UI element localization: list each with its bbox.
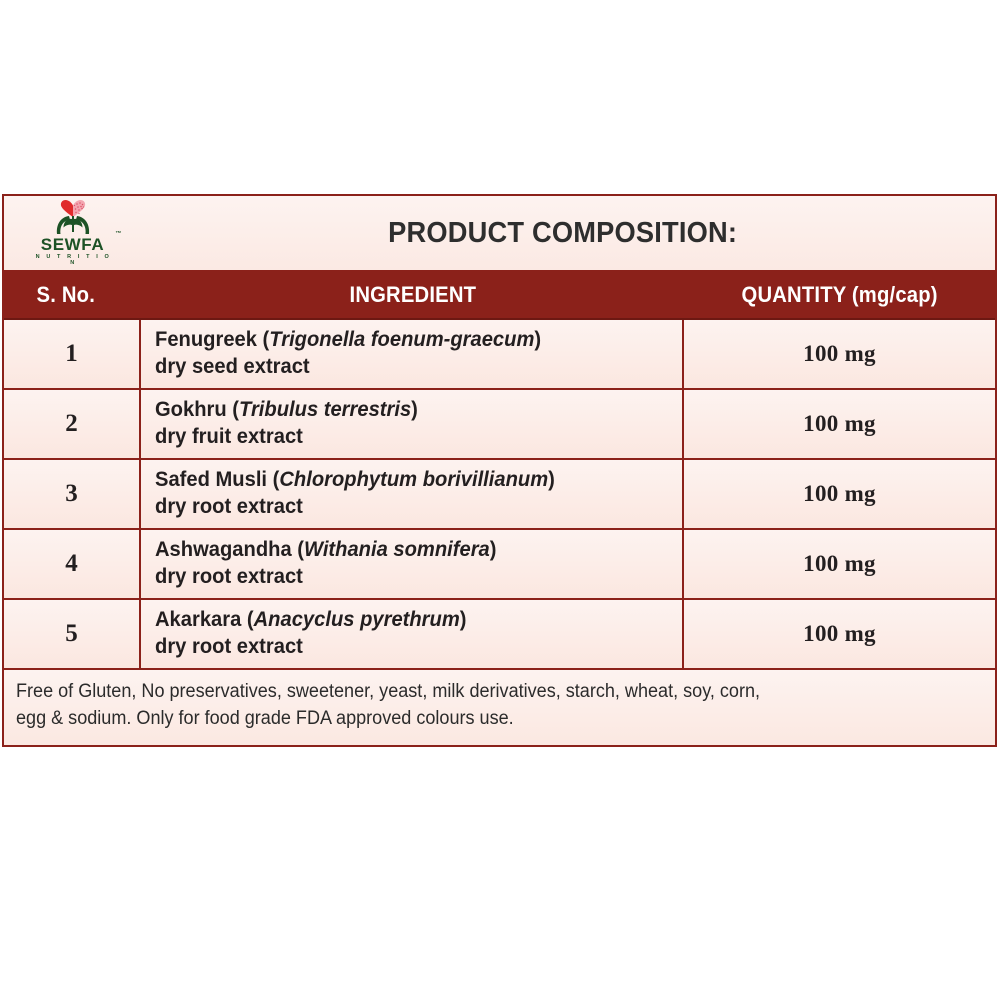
table-row: 1 Fenugreek (Trigonella foenum-graecum) … [4,320,995,390]
allergen-note: Free of Gluten, No preservatives, sweete… [4,670,995,745]
ingredient-latin-name: Anacyclus pyrethrum [254,608,460,631]
column-header-quantity: QUANTITY (mg/cap) [684,272,995,318]
logo-wordmark: SEWFA™ N U T R I T I O N [33,236,113,266]
sewfa-logo: SEWFA™ N U T R I T I O N [33,199,113,267]
table-header-row: S. No. INGREDIENT QUANTITY (mg/cap) [4,272,995,320]
ingredient-name-line: Safed Musli (Chlorophytum borivillianum) [155,467,555,494]
allergen-note-line-2: egg & sodium. Only for food grade FDA ap… [16,706,935,733]
row-quantity: 100 mg [684,390,995,458]
ingredient-part-line: dry seed extract [155,354,310,381]
row-ingredient: Safed Musli (Chlorophytum borivillianum)… [141,460,684,528]
ingredient-name-line: Gokhru (Tribulus terrestris) [155,397,418,424]
column-header-sno: S. No. [4,272,141,318]
row-ingredient: Ashwagandha (Withania somnifera) dry roo… [141,530,684,598]
column-header-sno-label: S. No. [37,282,95,308]
heart-flower-logo-icon [47,199,99,235]
column-header-ingredient-label: INGREDIENT [349,282,476,308]
ingredient-name-line: Fenugreek (Trigonella foenum-graecum) [155,327,541,354]
product-composition-card: SEWFA™ N U T R I T I O N PRODUCT COMPOSI… [2,194,997,747]
row-quantity: 100 mg [684,530,995,598]
table-row: 3 Safed Musli (Chlorophytum borivillianu… [4,460,995,530]
ingredient-paren-close: ) [548,468,555,491]
logo-trademark-icon: ™ [116,231,122,237]
ingredient-paren-close: ) [490,538,497,561]
row-serial-number: 1 [4,320,141,388]
card-title-cell: PRODUCT COMPOSITION: [141,196,995,270]
row-serial-number: 2 [4,390,141,458]
card-title-band: SEWFA™ N U T R I T I O N PRODUCT COMPOSI… [4,196,995,272]
table-row: 5 Akarkara (Anacyclus pyrethrum) dry roo… [4,600,995,670]
table-row: 2 Gokhru (Tribulus terrestris) dry fruit… [4,390,995,460]
ingredient-common-name: Gokhru ( [155,398,239,421]
row-ingredient: Akarkara (Anacyclus pyrethrum) dry root … [141,600,684,668]
row-serial-number: 3 [4,460,141,528]
ingredient-paren-close: ) [460,608,467,631]
table-row: 4 Ashwagandha (Withania somnifera) dry r… [4,530,995,600]
ingredient-paren-close: ) [411,398,418,421]
row-ingredient: Fenugreek (Trigonella foenum-graecum) dr… [141,320,684,388]
row-quantity: 100 mg [684,600,995,668]
ingredient-latin-name: Tribulus terrestris [239,398,411,421]
row-quantity: 100 mg [684,460,995,528]
logo-brand-name: SEWFA [41,236,104,253]
ingredient-name-line: Ashwagandha (Withania somnifera) [155,537,496,564]
ingredient-common-name: Safed Musli ( [155,468,279,491]
ingredient-latin-name: Withania somnifera [304,538,490,561]
row-serial-number: 4 [4,530,141,598]
brand-logo-cell: SEWFA™ N U T R I T I O N [4,196,141,270]
row-ingredient: Gokhru (Tribulus terrestris) dry fruit e… [141,390,684,458]
ingredient-part-line: dry fruit extract [155,424,303,451]
page-canvas: SEWFA™ N U T R I T I O N PRODUCT COMPOSI… [0,0,1000,1000]
ingredient-part-line: dry root extract [155,634,303,661]
column-header-ingredient: INGREDIENT [141,272,684,318]
ingredient-common-name: Fenugreek ( [155,328,269,351]
ingredient-latin-name: Trigonella foenum-graecum [269,328,534,351]
ingredient-common-name: Akarkara ( [155,608,254,631]
ingredient-latin-name: Chlorophytum borivillianum [279,468,548,491]
column-header-quantity-label: QUANTITY (mg/cap) [741,282,937,308]
ingredient-common-name: Ashwagandha ( [155,538,304,561]
row-serial-number: 5 [4,600,141,668]
allergen-note-line-1: Free of Gluten, No preservatives, sweete… [16,679,935,706]
page-title: PRODUCT COMPOSITION: [388,217,737,250]
row-quantity: 100 mg [684,320,995,388]
ingredient-part-line: dry root extract [155,494,303,521]
ingredient-part-line: dry root extract [155,564,303,591]
ingredient-name-line: Akarkara (Anacyclus pyrethrum) [155,607,467,634]
logo-brand-subtitle: N U T R I T I O N [33,255,113,266]
ingredient-paren-close: ) [534,328,541,351]
